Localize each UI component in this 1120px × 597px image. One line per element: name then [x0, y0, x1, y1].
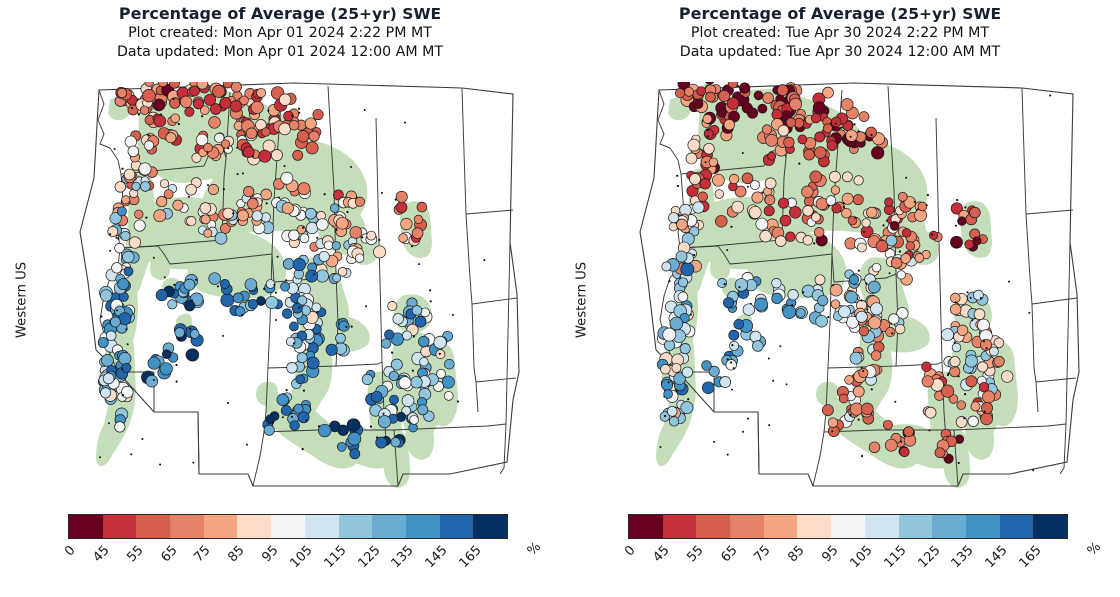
station-marker[interactable]: [233, 293, 243, 303]
station-marker[interactable]: [693, 202, 704, 213]
station-marker[interactable]: [251, 101, 263, 113]
station-marker[interactable]: [849, 275, 858, 284]
station-marker[interactable]: [156, 196, 166, 206]
station-marker[interactable]: [330, 204, 339, 213]
station-marker[interactable]: [306, 142, 318, 154]
station-marker[interactable]: [190, 330, 199, 339]
station-marker[interactable]: [950, 356, 960, 366]
station-marker[interactable]: [973, 237, 982, 246]
station-marker[interactable]: [742, 173, 753, 184]
station-marker[interactable]: [307, 357, 319, 369]
station-marker[interactable]: [293, 258, 305, 270]
station-marker[interactable]: [221, 294, 234, 307]
station-marker[interactable]: [209, 117, 221, 129]
station-marker[interactable]: [339, 321, 350, 332]
station-marker[interactable]: [153, 99, 165, 111]
station-marker[interactable]: [350, 449, 360, 459]
station-marker[interactable]: [812, 213, 821, 222]
station-marker[interactable]: [822, 405, 833, 416]
station-marker[interactable]: [681, 263, 694, 276]
station-marker[interactable]: [831, 117, 841, 127]
station-marker[interactable]: [336, 217, 348, 229]
station-marker[interactable]: [362, 374, 373, 385]
station-marker[interactable]: [966, 376, 977, 387]
station-marker[interactable]: [371, 391, 382, 402]
station-marker[interactable]: [200, 203, 211, 214]
station-marker[interactable]: [868, 317, 880, 329]
station-marker[interactable]: [684, 87, 693, 96]
station-marker[interactable]: [173, 200, 183, 210]
station-marker[interactable]: [703, 114, 712, 123]
station-marker[interactable]: [715, 190, 724, 199]
station-marker[interactable]: [717, 278, 726, 287]
station-marker[interactable]: [979, 382, 989, 392]
station-marker[interactable]: [859, 326, 869, 336]
station-marker[interactable]: [918, 202, 927, 211]
station-marker[interactable]: [841, 99, 853, 111]
station-marker[interactable]: [925, 407, 936, 418]
station-marker[interactable]: [101, 354, 113, 366]
station-marker[interactable]: [201, 215, 210, 224]
station-marker[interactable]: [264, 425, 274, 435]
station-marker[interactable]: [389, 395, 398, 404]
station-marker[interactable]: [140, 181, 150, 191]
station-marker[interactable]: [355, 197, 364, 206]
station-marker[interactable]: [676, 251, 687, 262]
station-marker[interactable]: [681, 402, 693, 414]
station-marker[interactable]: [223, 208, 234, 219]
station-marker[interactable]: [162, 350, 171, 359]
station-marker[interactable]: [169, 98, 180, 109]
station-marker[interactable]: [950, 304, 961, 315]
station-marker[interactable]: [763, 93, 774, 104]
station-marker[interactable]: [160, 363, 172, 375]
station-marker[interactable]: [784, 137, 795, 148]
station-marker[interactable]: [842, 208, 852, 218]
station-marker[interactable]: [871, 351, 881, 361]
station-marker[interactable]: [904, 427, 914, 437]
station-marker[interactable]: [237, 210, 248, 221]
station-marker[interactable]: [297, 353, 307, 363]
station-marker[interactable]: [786, 118, 795, 127]
station-marker[interactable]: [378, 415, 390, 427]
station-marker[interactable]: [376, 437, 387, 448]
station-marker[interactable]: [309, 131, 319, 141]
station-marker[interactable]: [859, 112, 869, 122]
station-marker[interactable]: [935, 448, 945, 458]
station-marker[interactable]: [845, 375, 854, 384]
station-marker[interactable]: [209, 273, 221, 285]
station-marker[interactable]: [743, 304, 755, 316]
station-marker[interactable]: [338, 425, 348, 435]
station-marker[interactable]: [717, 108, 726, 117]
station-marker[interactable]: [869, 442, 880, 453]
station-marker[interactable]: [296, 375, 305, 384]
station-marker[interactable]: [103, 373, 114, 384]
station-marker[interactable]: [777, 85, 788, 96]
station-marker[interactable]: [670, 317, 683, 330]
station-marker[interactable]: [697, 87, 706, 96]
station-marker[interactable]: [682, 367, 693, 378]
station-marker[interactable]: [846, 130, 858, 142]
station-marker[interactable]: [305, 118, 316, 129]
station-marker[interactable]: [144, 141, 153, 150]
station-marker[interactable]: [698, 192, 708, 202]
station-marker[interactable]: [381, 339, 391, 349]
station-marker[interactable]: [306, 222, 318, 234]
station-marker[interactable]: [700, 178, 711, 189]
station-marker[interactable]: [720, 376, 731, 387]
station-marker[interactable]: [885, 439, 897, 451]
station-marker[interactable]: [870, 303, 882, 315]
station-marker[interactable]: [898, 192, 907, 201]
station-marker[interactable]: [261, 189, 272, 200]
station-marker[interactable]: [902, 228, 911, 237]
station-marker[interactable]: [297, 130, 309, 142]
station-marker[interactable]: [193, 99, 203, 109]
station-marker[interactable]: [168, 300, 177, 309]
station-marker[interactable]: [952, 343, 961, 352]
station-marker[interactable]: [729, 174, 739, 184]
station-marker[interactable]: [244, 186, 254, 196]
station-marker[interactable]: [941, 329, 953, 341]
station-marker[interactable]: [772, 293, 783, 304]
station-marker[interactable]: [247, 198, 258, 209]
station-marker[interactable]: [282, 202, 293, 213]
station-marker[interactable]: [765, 195, 775, 205]
station-marker[interactable]: [414, 215, 423, 224]
station-marker[interactable]: [686, 153, 697, 164]
station-marker[interactable]: [246, 128, 257, 139]
station-marker[interactable]: [393, 314, 404, 325]
station-marker[interactable]: [866, 207, 877, 218]
station-marker[interactable]: [922, 362, 932, 372]
station-marker[interactable]: [271, 149, 282, 160]
station-marker[interactable]: [675, 88, 684, 97]
station-marker[interactable]: [190, 86, 200, 96]
station-marker[interactable]: [367, 231, 376, 240]
station-marker[interactable]: [124, 267, 133, 276]
station-marker[interactable]: [420, 357, 429, 366]
station-marker[interactable]: [399, 234, 408, 243]
station-marker[interactable]: [829, 171, 840, 182]
station-marker[interactable]: [298, 412, 309, 423]
station-marker[interactable]: [374, 246, 386, 258]
station-marker[interactable]: [338, 267, 347, 276]
station-marker[interactable]: [337, 442, 346, 451]
station-marker[interactable]: [221, 140, 229, 148]
station-marker[interactable]: [688, 139, 700, 151]
station-marker[interactable]: [667, 406, 677, 416]
station-marker[interactable]: [412, 228, 423, 239]
station-marker[interactable]: [729, 341, 738, 350]
station-marker[interactable]: [215, 232, 227, 244]
station-marker[interactable]: [417, 202, 427, 212]
station-marker[interactable]: [756, 218, 768, 230]
station-marker[interactable]: [846, 291, 858, 303]
station-marker[interactable]: [148, 357, 160, 369]
station-marker[interactable]: [788, 289, 799, 300]
station-marker[interactable]: [709, 158, 718, 167]
station-marker[interactable]: [402, 331, 411, 340]
station-marker[interactable]: [171, 114, 180, 123]
station-marker[interactable]: [929, 231, 937, 239]
station-marker[interactable]: [117, 88, 127, 98]
station-marker[interactable]: [220, 279, 229, 288]
station-marker[interactable]: [324, 241, 333, 250]
station-marker[interactable]: [139, 163, 151, 175]
station-marker[interactable]: [664, 340, 674, 350]
station-marker[interactable]: [780, 215, 791, 226]
station-marker[interactable]: [850, 403, 862, 415]
station-marker[interactable]: [204, 143, 213, 152]
station-marker[interactable]: [785, 232, 795, 242]
station-marker[interactable]: [755, 298, 768, 311]
station-marker[interactable]: [266, 296, 278, 308]
station-marker[interactable]: [283, 258, 294, 269]
station-marker[interactable]: [866, 127, 877, 138]
station-marker[interactable]: [402, 395, 414, 407]
station-marker[interactable]: [853, 386, 864, 397]
station-marker[interactable]: [857, 243, 866, 252]
station-marker[interactable]: [298, 183, 310, 195]
station-marker[interactable]: [146, 375, 158, 387]
station-marker[interactable]: [279, 123, 291, 135]
station-marker[interactable]: [350, 226, 362, 238]
station-marker[interactable]: [669, 213, 679, 223]
station-marker[interactable]: [831, 300, 840, 309]
station-marker[interactable]: [317, 219, 329, 231]
station-marker[interactable]: [981, 413, 993, 425]
station-marker[interactable]: [815, 275, 825, 285]
station-marker[interactable]: [765, 178, 776, 189]
station-marker[interactable]: [891, 258, 902, 269]
station-marker[interactable]: [117, 207, 126, 216]
station-marker[interactable]: [262, 128, 271, 137]
station-marker[interactable]: [739, 83, 749, 93]
station-marker[interactable]: [347, 419, 360, 432]
station-marker[interactable]: [750, 331, 761, 342]
station-marker[interactable]: [100, 388, 110, 398]
station-marker[interactable]: [798, 135, 807, 144]
station-marker[interactable]: [125, 136, 137, 148]
station-marker[interactable]: [348, 432, 361, 445]
station-marker[interactable]: [752, 341, 763, 352]
station-marker[interactable]: [396, 202, 407, 213]
station-marker[interactable]: [115, 182, 126, 193]
station-marker[interactable]: [705, 92, 715, 102]
station-marker[interactable]: [128, 146, 139, 157]
station-marker[interactable]: [764, 206, 774, 216]
station-marker[interactable]: [396, 191, 407, 202]
station-marker[interactable]: [747, 108, 757, 118]
station-marker[interactable]: [410, 415, 419, 424]
station-marker[interactable]: [186, 349, 198, 361]
station-marker[interactable]: [724, 119, 735, 130]
station-marker[interactable]: [259, 150, 271, 162]
station-marker[interactable]: [143, 89, 156, 102]
station-marker[interactable]: [727, 98, 739, 110]
station-marker[interactable]: [336, 333, 346, 343]
station-marker[interactable]: [418, 405, 428, 415]
station-marker[interactable]: [164, 190, 173, 199]
station-marker[interactable]: [830, 284, 842, 296]
station-marker[interactable]: [266, 280, 275, 289]
station-marker[interactable]: [306, 270, 318, 282]
station-marker[interactable]: [186, 184, 197, 195]
station-marker[interactable]: [994, 356, 1004, 366]
station-marker[interactable]: [732, 201, 744, 213]
station-marker[interactable]: [778, 198, 788, 208]
station-marker[interactable]: [289, 230, 300, 241]
station-marker[interactable]: [678, 278, 687, 287]
station-marker[interactable]: [702, 382, 714, 394]
station-marker[interactable]: [444, 359, 454, 369]
station-marker[interactable]: [282, 309, 292, 319]
station-marker[interactable]: [958, 217, 967, 226]
station-marker[interactable]: [856, 311, 867, 322]
station-marker[interactable]: [185, 301, 195, 311]
station-marker[interactable]: [977, 362, 987, 372]
station-marker[interactable]: [816, 315, 828, 327]
station-marker[interactable]: [444, 391, 453, 400]
station-marker[interactable]: [184, 279, 195, 290]
station-marker[interactable]: [669, 417, 679, 427]
station-marker[interactable]: [281, 405, 291, 415]
station-marker[interactable]: [134, 210, 143, 219]
station-marker[interactable]: [292, 303, 302, 313]
station-marker[interactable]: [693, 99, 703, 109]
station-marker[interactable]: [300, 234, 309, 243]
station-marker[interactable]: [702, 361, 712, 371]
station-marker[interactable]: [859, 368, 868, 377]
station-marker[interactable]: [915, 254, 924, 263]
station-marker[interactable]: [772, 278, 782, 288]
station-marker[interactable]: [318, 424, 331, 437]
station-marker[interactable]: [134, 220, 145, 231]
station-marker[interactable]: [277, 394, 289, 406]
station-marker[interactable]: [754, 91, 763, 100]
station-marker[interactable]: [279, 94, 291, 106]
station-marker[interactable]: [968, 416, 979, 427]
station-marker[interactable]: [704, 143, 715, 154]
station-marker[interactable]: [124, 169, 135, 180]
station-marker[interactable]: [401, 218, 413, 230]
station-marker[interactable]: [971, 402, 980, 411]
station-marker[interactable]: [823, 124, 832, 133]
station-marker[interactable]: [187, 216, 196, 225]
station-marker[interactable]: [286, 337, 295, 346]
station-marker[interactable]: [313, 109, 323, 119]
station-marker[interactable]: [121, 386, 133, 398]
station-marker[interactable]: [412, 306, 422, 316]
station-marker[interactable]: [726, 359, 737, 370]
station-marker[interactable]: [783, 306, 796, 319]
station-marker[interactable]: [814, 147, 826, 159]
station-marker[interactable]: [411, 377, 423, 389]
station-marker[interactable]: [204, 229, 212, 237]
station-marker[interactable]: [418, 336, 429, 347]
station-marker[interactable]: [399, 377, 411, 389]
station-marker[interactable]: [861, 403, 873, 415]
station-marker[interactable]: [826, 196, 836, 206]
station-marker[interactable]: [810, 171, 822, 183]
station-marker[interactable]: [678, 292, 688, 302]
station-marker[interactable]: [129, 237, 141, 249]
station-marker[interactable]: [140, 106, 149, 115]
station-marker[interactable]: [213, 85, 225, 97]
station-marker[interactable]: [106, 331, 116, 341]
station-marker[interactable]: [245, 279, 257, 291]
station-marker[interactable]: [729, 330, 739, 340]
station-marker[interactable]: [790, 98, 802, 110]
station-marker[interactable]: [850, 352, 862, 364]
station-marker[interactable]: [662, 262, 671, 271]
station-marker[interactable]: [715, 215, 727, 227]
station-marker[interactable]: [889, 314, 899, 324]
station-marker[interactable]: [305, 208, 316, 219]
station-marker[interactable]: [982, 391, 994, 403]
station-marker[interactable]: [803, 205, 814, 216]
station-marker[interactable]: [663, 328, 676, 341]
station-marker[interactable]: [1001, 371, 1013, 383]
station-marker[interactable]: [842, 172, 852, 182]
station-marker[interactable]: [895, 324, 905, 334]
station-marker[interactable]: [231, 82, 241, 92]
station-marker[interactable]: [132, 182, 140, 190]
station-marker[interactable]: [839, 306, 851, 318]
station-marker[interactable]: [775, 236, 786, 247]
station-marker[interactable]: [886, 327, 895, 336]
station-marker[interactable]: [112, 263, 123, 274]
station-marker[interactable]: [883, 420, 892, 429]
station-marker[interactable]: [261, 213, 270, 222]
station-marker[interactable]: [220, 97, 231, 108]
station-marker[interactable]: [442, 376, 454, 388]
station-marker[interactable]: [897, 271, 905, 279]
station-marker[interactable]: [332, 241, 340, 249]
station-marker[interactable]: [853, 194, 863, 204]
station-marker[interactable]: [734, 319, 744, 329]
station-marker[interactable]: [281, 282, 290, 291]
station-marker[interactable]: [662, 379, 673, 390]
station-marker[interactable]: [156, 289, 167, 300]
station-marker[interactable]: [915, 209, 927, 221]
station-marker[interactable]: [828, 418, 838, 428]
station-marker[interactable]: [752, 192, 763, 203]
station-marker[interactable]: [957, 325, 968, 336]
station-marker[interactable]: [160, 179, 168, 187]
station-marker[interactable]: [735, 279, 748, 292]
station-marker[interactable]: [970, 207, 981, 218]
station-marker[interactable]: [871, 147, 884, 160]
station-marker[interactable]: [110, 317, 120, 327]
station-marker[interactable]: [118, 278, 129, 289]
station-marker[interactable]: [230, 101, 242, 113]
station-marker[interactable]: [802, 186, 814, 198]
station-marker[interactable]: [672, 363, 681, 372]
station-marker[interactable]: [289, 322, 298, 331]
station-marker[interactable]: [252, 211, 262, 221]
station-marker[interactable]: [876, 240, 888, 252]
station-marker[interactable]: [119, 353, 131, 365]
station-marker[interactable]: [723, 298, 733, 308]
station-marker[interactable]: [768, 152, 776, 160]
station-marker[interactable]: [661, 364, 671, 374]
station-marker[interactable]: [803, 235, 813, 245]
station-marker[interactable]: [689, 174, 700, 185]
station-marker[interactable]: [827, 141, 837, 151]
